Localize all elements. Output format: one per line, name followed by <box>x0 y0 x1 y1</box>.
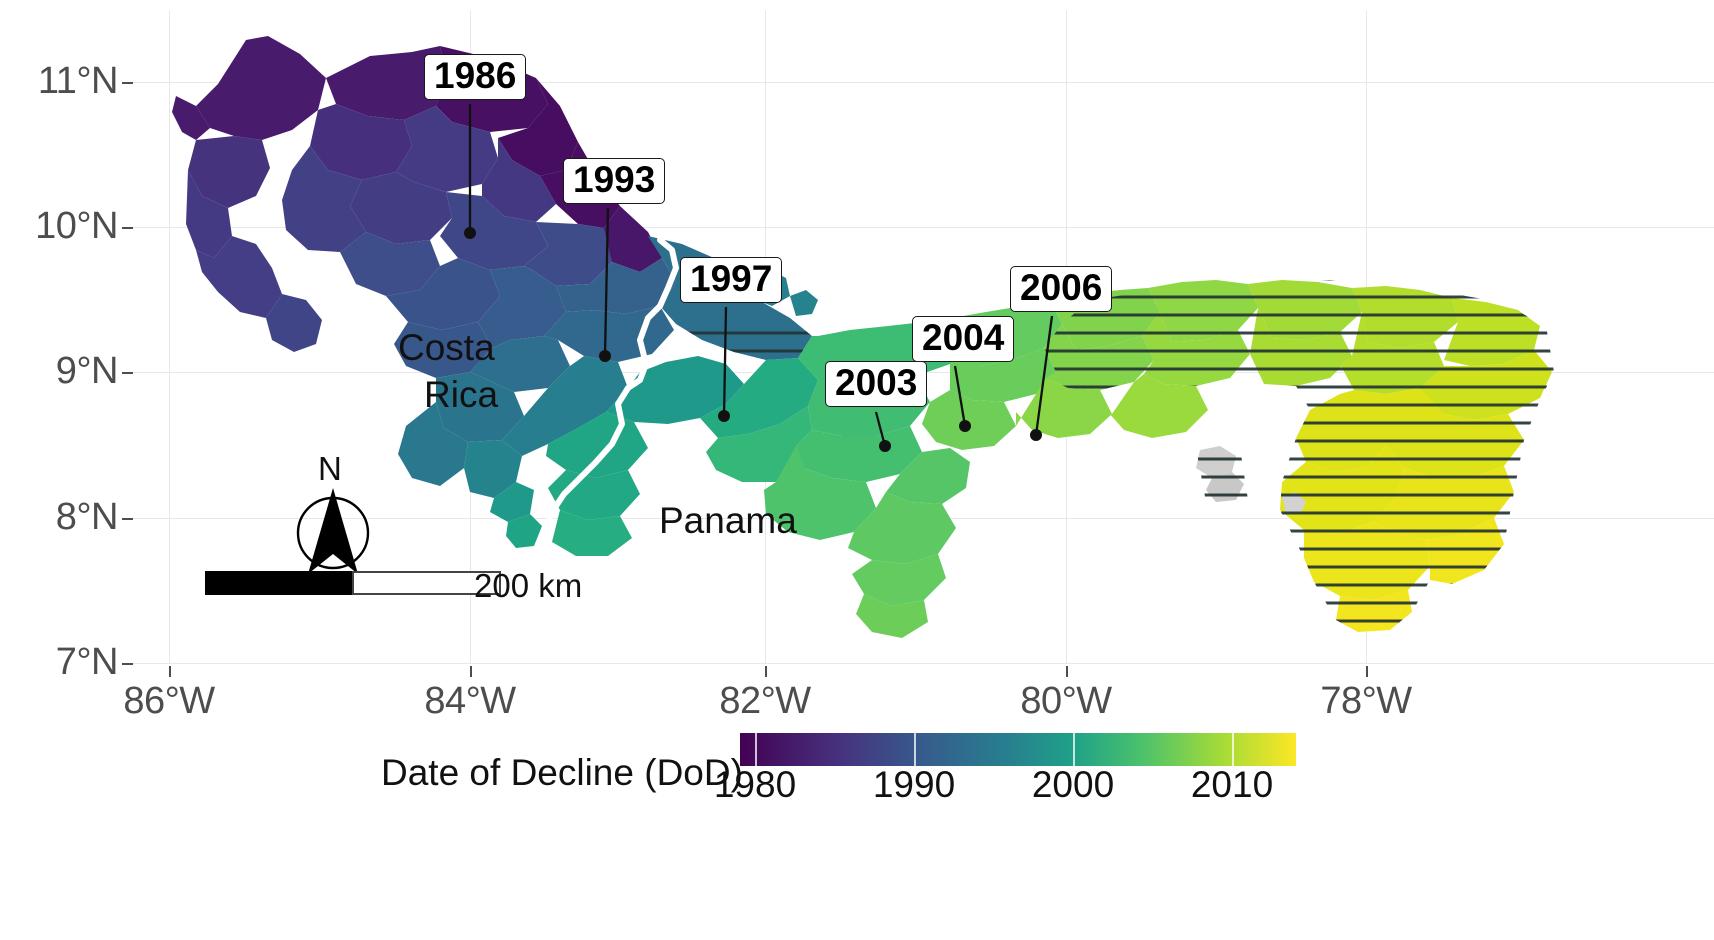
leader-dot-2004 <box>959 420 971 432</box>
leader-1997 <box>724 307 726 416</box>
leader-dot-2003 <box>879 440 891 452</box>
leader-dot-1997 <box>718 410 730 422</box>
leader-dot-1993 <box>599 350 611 362</box>
leader-2006 <box>1036 316 1052 435</box>
leader-lines <box>0 0 1714 700</box>
leader-dot-2006 <box>1030 429 1042 441</box>
colorbar-label-2000: 2000 <box>993 764 1153 806</box>
colorbar-tick-2000 <box>1073 733 1075 766</box>
annotation-1993[interactable]: 1993 <box>563 158 665 204</box>
colorbar-tick-2010 <box>1232 733 1234 766</box>
colorbar-label-2010: 2010 <box>1152 764 1312 806</box>
colorbar-label-1990: 1990 <box>834 764 994 806</box>
leader-2004 <box>955 366 965 426</box>
map-figure: 1986 1993 1997 2003 2004 2006 Costa Rica… <box>0 0 1714 940</box>
colorbar-label-1980: 1980 <box>675 764 835 806</box>
annotation-1997[interactable]: 1997 <box>680 257 782 303</box>
annotation-1986[interactable]: 1986 <box>424 54 526 100</box>
colorbar-tick-1980 <box>755 733 757 766</box>
annotation-2004[interactable]: 2004 <box>912 316 1014 362</box>
leader-1993 <box>605 208 608 356</box>
colorbar-tick-1990 <box>914 733 916 766</box>
leader-dot-1986 <box>464 227 476 239</box>
annotation-2006[interactable]: 2006 <box>1010 266 1112 312</box>
annotation-2003[interactable]: 2003 <box>825 361 927 407</box>
legend-colorbar[interactable] <box>740 733 1296 766</box>
